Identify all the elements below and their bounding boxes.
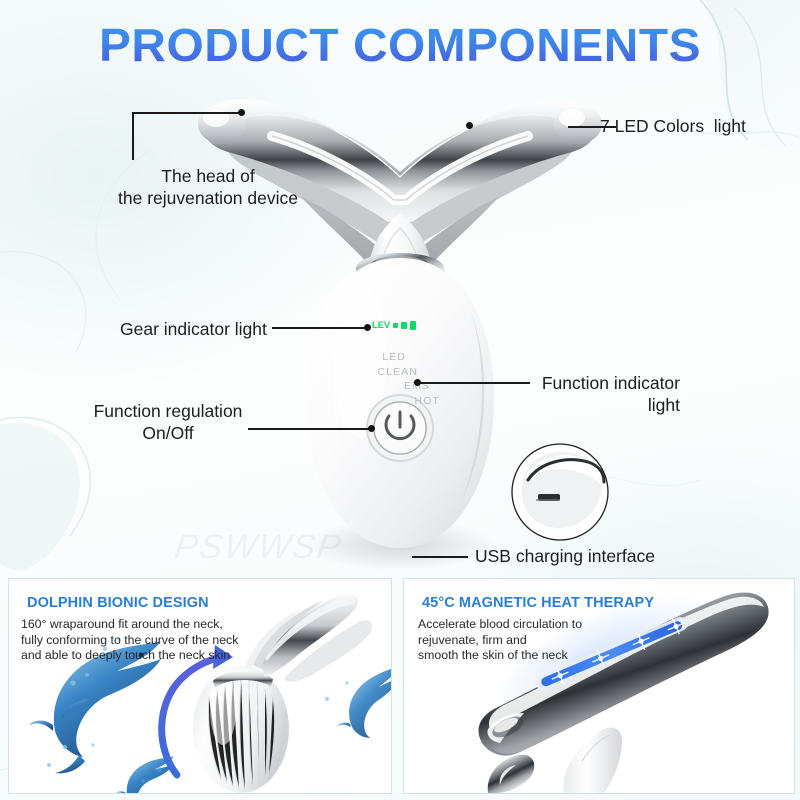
level-indicator: LEV xyxy=(372,320,416,331)
callout-gear-indicator: Gear indicator light xyxy=(120,318,267,340)
leader-dot-fn-regulate xyxy=(368,425,375,432)
card-heading-dolphin: DOLPHIN BIONIC DESIGN xyxy=(27,595,209,611)
leader-dot-head xyxy=(238,109,245,116)
device-illustration xyxy=(0,0,800,580)
callout-usb-charging: USB charging interface xyxy=(475,545,655,567)
heat-card-illustration xyxy=(404,579,794,793)
card-dolphin-bionic-design: DOLPHIN BIONIC DESIGN 160° wraparound fi… xyxy=(8,578,392,794)
leader-line-head-v xyxy=(132,112,134,160)
watermark: PSWWSP xyxy=(172,528,344,567)
leader-line-usb xyxy=(412,556,468,558)
callout-head-of-device: The head of the rejuvenation device xyxy=(108,165,308,210)
level-label: LEV xyxy=(372,320,390,331)
function-label-led: LED xyxy=(362,350,442,365)
card-body-dolphin: 160° wraparound fit around the neck, ful… xyxy=(21,617,251,664)
product-infographic: PRODUCT COMPONENTS xyxy=(0,0,800,800)
leader-dot-gear xyxy=(364,324,371,331)
card-magnetic-heat-therapy: 45°C MAGNETIC HEAT THERAPY Accelerate bl… xyxy=(403,578,795,794)
callout-function-indicator: Function indicator light xyxy=(430,372,680,417)
card-heading-heat: 45°C MAGNETIC HEAT THERAPY xyxy=(422,595,654,611)
level-bar-1 xyxy=(393,323,398,328)
level-bar-2 xyxy=(401,322,407,329)
callout-function-regulation: Function regulation On/Off xyxy=(68,400,268,445)
leader-line-head-h xyxy=(132,112,242,114)
level-bar-3 xyxy=(410,321,416,330)
leader-line-gear xyxy=(272,327,368,329)
leader-dot-led xyxy=(466,122,473,129)
leader-dot-fn-indicator xyxy=(414,379,421,386)
dolphin-card-illustration xyxy=(9,579,391,793)
card-body-heat: Accelerate blood circulation to rejuvena… xyxy=(418,617,648,664)
callout-led-colors: 7 LED Colors light xyxy=(600,115,746,137)
